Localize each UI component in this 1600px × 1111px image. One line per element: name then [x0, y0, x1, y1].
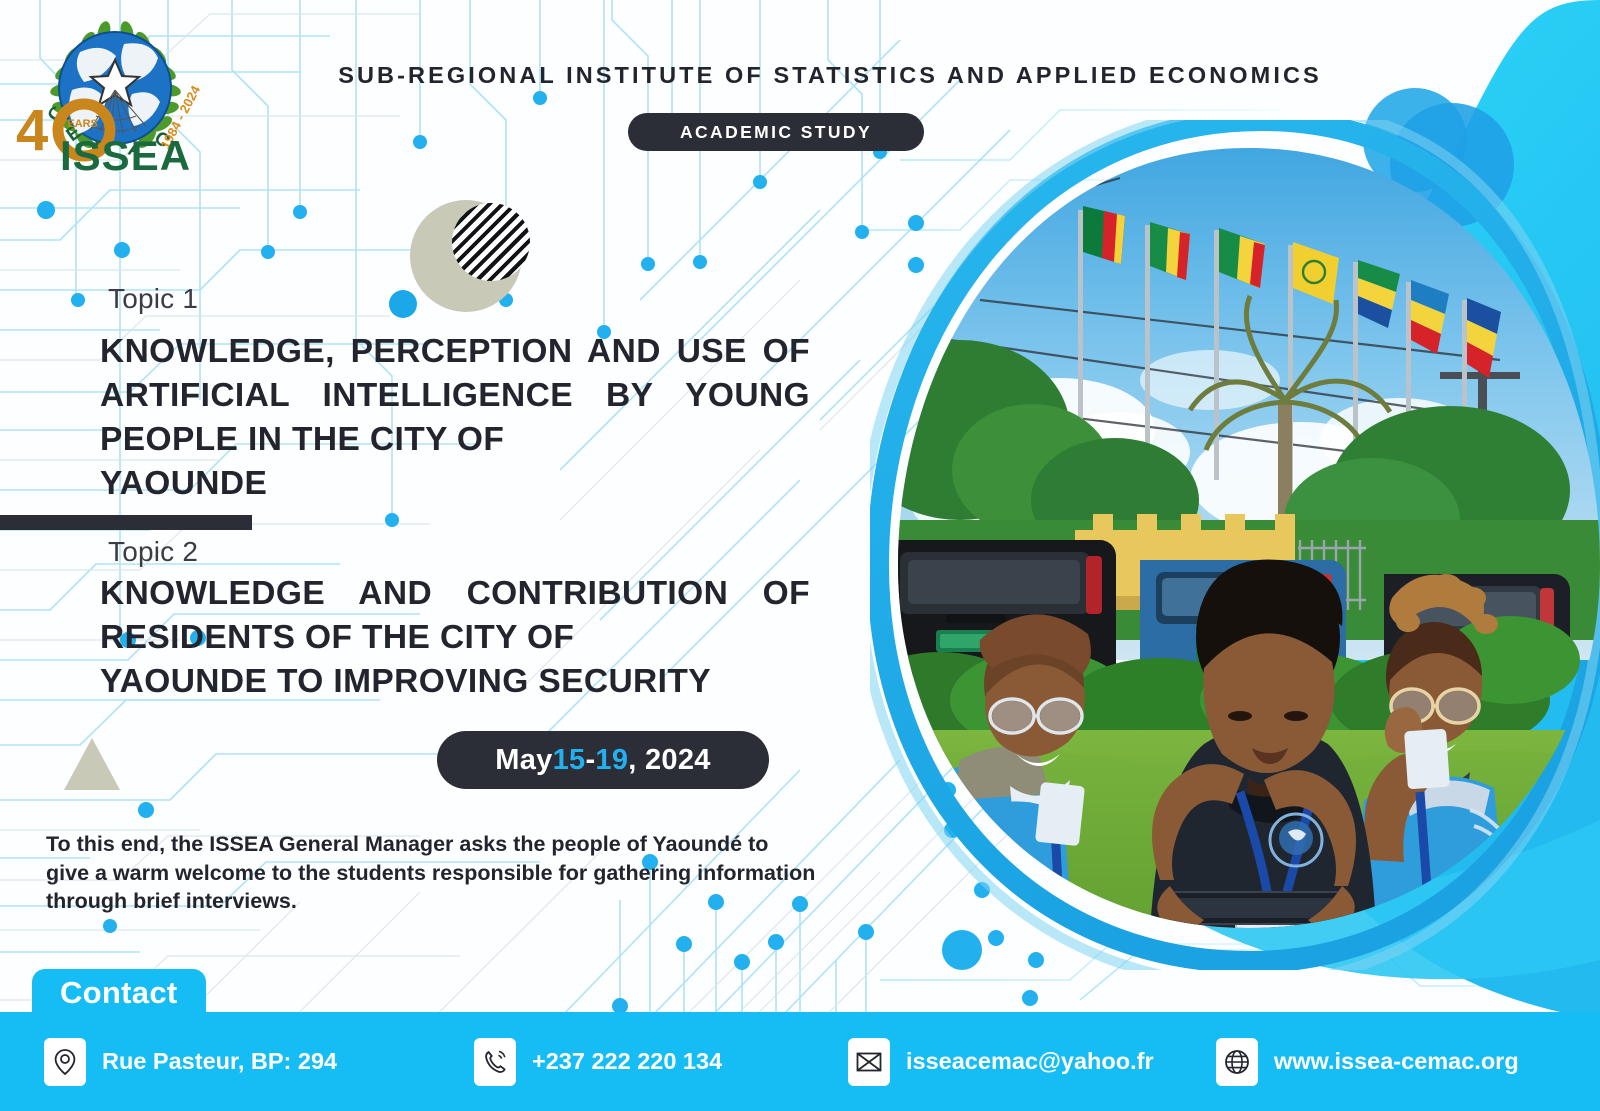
- date-day-end: 19: [595, 744, 628, 777]
- svg-text:YEARS: YEARS: [60, 118, 98, 130]
- date-day-start: 15: [553, 744, 586, 777]
- topic-1-heading: KNOWLEDGE, PERCEPTION AND USE OF ARTIFIC…: [100, 330, 810, 506]
- topic-2-heading: KNOWLEDGE AND CONTRIBUTION OF RESIDENTS …: [100, 572, 810, 704]
- academic-study-badge: ACADEMIC STUDY: [628, 113, 924, 151]
- striped-circle-decoration: [452, 203, 530, 281]
- location-pin-icon: [44, 1038, 86, 1086]
- date-month: May: [495, 744, 552, 777]
- topic-2-label: Topic 2: [108, 536, 198, 568]
- institute-title: SUB-REGIONAL INSTITUTE OF STATISTICS AND…: [270, 62, 1390, 89]
- contact-website-value: www.issea-cemac.org: [1274, 1048, 1519, 1075]
- contact-address[interactable]: Rue Pasteur, BP: 294: [44, 1038, 337, 1086]
- svg-text:ISSEA: ISSEA: [60, 132, 191, 179]
- contact-website[interactable]: www.issea-cemac.org: [1216, 1038, 1519, 1086]
- blue-dot-decoration: [389, 290, 417, 318]
- contact-phone-value: +237 222 220 134: [532, 1048, 722, 1075]
- poster-root: C E M A C 4 YEARS 1984 - 2024 ISSEA SUB-…: [0, 0, 1600, 1111]
- contact-address-value: Rue Pasteur, BP: 294: [102, 1048, 337, 1075]
- globe-icon: [1216, 1038, 1258, 1086]
- envelope-icon: [848, 1038, 890, 1086]
- khaki-triangle-decoration: [64, 738, 120, 790]
- topic-1-heading-lastline: YAOUNDE: [100, 462, 810, 506]
- contact-email[interactable]: isseacemac@yahoo.fr: [848, 1038, 1154, 1086]
- contact-tab-label: Contact: [32, 969, 206, 1017]
- event-date-badge: May 15 - 19, 2024: [437, 731, 769, 789]
- contact-items: Rue Pasteur, BP: 294 +237 222 220 134 is…: [0, 1012, 1600, 1111]
- contact-phone[interactable]: +237 222 220 134: [474, 1038, 722, 1086]
- date-year: , 2024: [628, 744, 710, 777]
- section-divider-rule: [0, 515, 252, 530]
- contact-email-value: isseacemac@yahoo.fr: [906, 1048, 1154, 1075]
- phone-icon: [474, 1038, 516, 1086]
- topic-2-heading-lastline: YAOUNDE TO IMPROVING SECURITY: [100, 660, 810, 704]
- topic-1-heading-body: KNOWLEDGE, PERCEPTION AND USE OF ARTIFIC…: [100, 333, 810, 458]
- date-separator: -: [585, 744, 595, 777]
- topic-1-label: Topic 1: [108, 283, 198, 315]
- announcement-paragraph: To this end, the ISSEA General Manager a…: [46, 830, 816, 916]
- issea-cemac-logo: C E M A C 4 YEARS 1984 - 2024 ISSEA: [8, 4, 223, 184]
- topic-2-heading-body: KNOWLEDGE AND CONTRIBUTION OF RESIDENTS …: [100, 575, 810, 656]
- svg-text:4: 4: [16, 98, 48, 163]
- photo-and-blob-decorations: [0, 0, 1600, 1111]
